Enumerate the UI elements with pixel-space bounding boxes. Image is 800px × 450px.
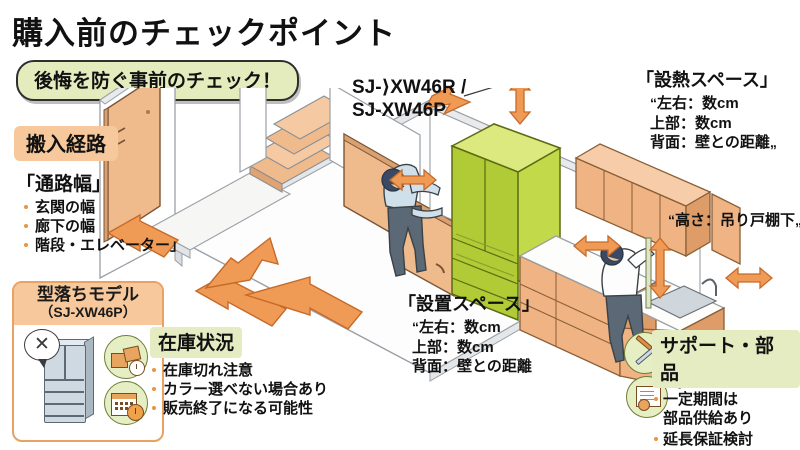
infographic-root: 購入前のチェックポイント 後悔を防ぐ事前のチェック！	[0, 0, 800, 450]
list-item: 廊下の幅	[22, 217, 214, 236]
close-quote: „	[795, 212, 800, 228]
list-item: 一定期間は	[652, 390, 800, 409]
spec-line-3: 背面：壁との距離	[412, 357, 628, 377]
support-list-2: 延長保証検討	[652, 430, 800, 449]
heat-space-specs: “左右：数cm 上部：数cm 背面：壁との距離„	[650, 94, 796, 153]
old-model-title: 型落ちモデル	[14, 286, 162, 304]
support-list: 一定期間は	[652, 390, 800, 409]
list-item: 在庫切れ注意	[150, 361, 328, 380]
spec-line-1: “左右：数cm	[412, 318, 628, 338]
open-quote: “	[412, 319, 419, 335]
stock-section: 在庫状況 在庫切れ注意 カラー選べない場合あり 販売終了になる可能性	[150, 327, 328, 419]
stock-list: 在庫切れ注意 カラー選べない場合あり 販売終了になる可能性	[150, 361, 328, 419]
height-note: “高さ：吊り戸棚下„	[668, 209, 800, 230]
carry-route-list: 玄関の幅 廊下の幅 階段・エレベーター」	[22, 198, 214, 256]
support-item-continued: 部品供給あり	[652, 409, 800, 428]
carry-route-heading: 搬入経路	[14, 126, 118, 161]
spec-text: 背面：壁との距離	[650, 134, 770, 151]
close-icon: ✕	[24, 329, 60, 361]
list-item: 延長保証検討	[652, 430, 800, 449]
calendar-clock-icon	[104, 381, 148, 425]
install-space-heading: 「設置スペース」	[398, 290, 628, 316]
page-title: 購入前のチェックポイント	[12, 8, 396, 53]
boxes-clock-icon	[104, 335, 148, 379]
install-space-specs: “左右：数cm 上部：数cm 背面：壁との距離	[412, 318, 628, 377]
spec-line-2: 上部：数cm	[412, 338, 628, 358]
carry-route-section: 搬入経路 「通路幅」 玄関の幅 廊下の幅 階段・エレベーター」	[14, 126, 214, 256]
spec-line-3: 背面：壁との距離„	[650, 133, 796, 153]
list-item: 販売終了になる可能性	[150, 399, 328, 418]
model-label-line1: SJ-⟩XW46R /	[352, 76, 466, 99]
install-space-section: 「設置スペース」 “左右：数cm 上部：数cm 背面：壁との距離	[398, 290, 628, 377]
support-heading: サポート・部品	[652, 330, 800, 388]
height-note-text: 高さ：吊り戸棚下	[675, 212, 795, 229]
open-quote: “	[650, 95, 657, 111]
carry-route-subheading: 「通路幅」	[16, 169, 214, 196]
support-section: サポート・部品 一定期間は 部品供給あり 延長保証検討	[652, 330, 800, 450]
spec-line-2: 上部：数cm	[650, 114, 796, 134]
spec-text: 左右：数cm	[657, 95, 739, 112]
old-model-header: 型落ちモデル （SJ-XW46P）	[14, 283, 162, 325]
old-model-icons: ✕	[14, 325, 162, 429]
old-model-number: （SJ-XW46P）	[14, 304, 162, 320]
spec-line-1: “左右：数cm	[650, 94, 796, 114]
list-item: 玄関の幅	[22, 198, 214, 217]
list-item: 階段・エレベーター」	[22, 236, 214, 255]
open-quote: “	[668, 212, 675, 228]
close-quote: „	[770, 134, 777, 150]
model-label: SJ-⟩XW46R / SJ-XW46P	[352, 76, 466, 122]
list-item: カラー選べない場合あり	[150, 380, 328, 399]
old-model-card: 型落ちモデル （SJ-XW46P） ✕	[12, 281, 164, 442]
heat-space-heading: 「設熱スペース」	[636, 66, 796, 92]
spec-text: 左右：数cm	[419, 319, 501, 336]
model-label-line2: SJ-XW46P	[352, 99, 466, 122]
stock-heading: 在庫状況	[150, 327, 242, 358]
heat-space-section: 「設熱スペース」 “左右：数cm 上部：数cm 背面：壁との距離„	[636, 66, 796, 153]
